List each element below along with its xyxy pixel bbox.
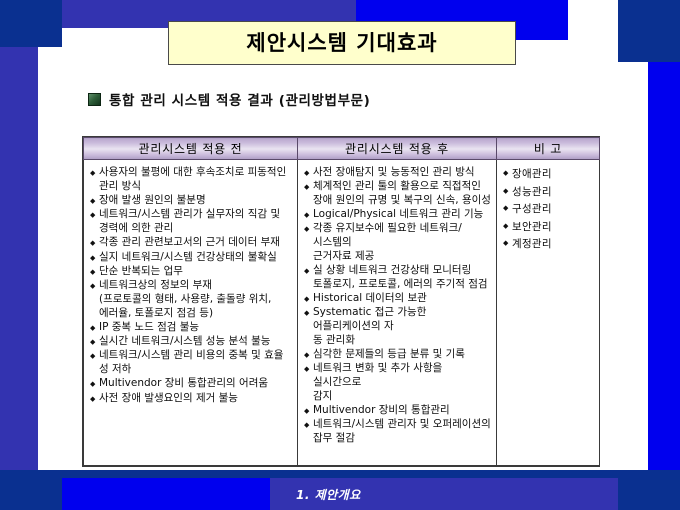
after-list-item: 네트워크/시스템 관리자 및 오퍼레이션의 (304, 418, 491, 432)
before-list-item: 실지 네트워크/시스템 건강상태의 불확실 (90, 251, 292, 265)
after-list-item-continuation: 잡무 절감 (304, 432, 491, 446)
green-square-bullet-icon (88, 93, 101, 106)
section-subtitle-label: 통합 관리 시스템 적용 결과 (관리방법부문) (109, 89, 370, 109)
cell-before: 사용자의 불평에 대한 후속조치로 피동적인관리 방식장애 발생 원인의 불분명… (84, 160, 298, 466)
decor-top-left-navy-block (0, 0, 62, 47)
after-list-item: 네트워크 변화 및 추가 사항을 실시간으로 (304, 362, 491, 389)
before-list-item: 네트워크상의 정보의 부재 (90, 279, 292, 293)
remarks-list: 장애관리성능관리구성관리보안관리계정관리 (503, 166, 594, 253)
after-list-item-continuation: 동 관리화 (304, 334, 491, 348)
table-header-remarks: 비 고 (497, 138, 600, 160)
remarks-list-item: 장애관리 (503, 166, 594, 183)
after-list-item: 심각한 문제들의 등급 분류 및 기록 (304, 348, 491, 362)
before-list-item: 네트워크/시스템 관리 비용의 중복 및 효율 (90, 349, 292, 363)
after-list-item: 체계적인 관리 툴의 활용으로 직접적인 (304, 180, 491, 194)
after-list: 사전 장애탐지 및 능동적인 관리 방식체계적인 관리 툴의 활용으로 직접적인… (304, 166, 491, 446)
footer-accent-block (62, 478, 270, 510)
before-list-item: 장애 발생 원인의 불분명 (90, 194, 292, 208)
page-title: 제안시스템 기대효과 (246, 33, 437, 54)
before-list-item: IP 중복 노드 점검 불능 (90, 321, 292, 335)
remarks-list-item: 보안관리 (503, 219, 594, 236)
decor-right-vertical-strip (648, 62, 680, 470)
decor-top-right-navy-block (618, 0, 680, 62)
table-header-after: 관리시스템 적용 후 (298, 138, 497, 160)
footer-label: 1. 제안개요 (296, 486, 361, 503)
comparison-table: 관리시스템 적용 전 관리시스템 적용 후 비 고 사용자의 불평에 대한 후속… (83, 137, 600, 466)
before-list-item-continuation: 성 저하 (90, 363, 292, 377)
after-list-item: 각종 유지보수에 필요한 네트워크/시스템의 (304, 222, 491, 249)
section-subtitle: 통합 관리 시스템 적용 결과 (관리방법부문) (88, 89, 370, 109)
after-list-item: Multivendor 장비의 통합관리 (304, 404, 491, 418)
after-list-item: 실 상황 네트워크 건강상태 모니터링 (304, 264, 491, 278)
before-list-item: Multivendor 장비 통합관리의 어려움 (90, 377, 292, 391)
cell-after: 사전 장애탐지 및 능동적인 관리 방식체계적인 관리 툴의 활용으로 직접적인… (298, 160, 497, 466)
slide-title-plate: 제안시스템 기대효과 (168, 21, 516, 65)
before-list-item: 실시간 네트워크/시스템 성능 분석 불능 (90, 335, 292, 349)
table-header-row: 관리시스템 적용 전 관리시스템 적용 후 비 고 (84, 138, 600, 160)
after-list-item: Logical/Physical 네트워크 관리 기능 (304, 208, 491, 222)
decor-left-vertical-strip (0, 47, 38, 470)
after-list-item-continuation: 장애 원인의 규명 및 복구의 신속, 용이성 (304, 194, 491, 208)
cell-remarks: 장애관리성능관리구성관리보안관리계정관리 (497, 160, 600, 466)
before-list-item: 사전 장애 발생요인의 제거 불능 (90, 392, 292, 406)
remarks-list-item: 성능관리 (503, 184, 594, 201)
before-list-item-continuation: 경력에 의한 관리 (90, 222, 292, 236)
comparison-table-container: 관리시스템 적용 전 관리시스템 적용 후 비 고 사용자의 불평에 대한 후속… (82, 136, 600, 467)
slide-canvas: 제안시스템 기대효과 통합 관리 시스템 적용 결과 (관리방법부문) 관리시스… (0, 0, 680, 510)
remarks-list-item: 계정관리 (503, 236, 594, 253)
after-list-item-continuation: 토폴로지, 프로토콜, 에러의 주기적 점검 (304, 278, 491, 292)
after-list-item: Systematic 접근 가능한 어플리케이션의 자 (304, 306, 491, 333)
table-row: 사용자의 불평에 대한 후속조치로 피동적인관리 방식장애 발생 원인의 불분명… (84, 160, 600, 466)
after-list-item-continuation: 감지 (304, 390, 491, 404)
after-list-item: Historical 데이터의 보관 (304, 292, 491, 306)
after-list-item: 사전 장애탐지 및 능동적인 관리 방식 (304, 166, 491, 180)
after-list-item-continuation: 근거자료 제공 (304, 250, 491, 264)
before-list-item-continuation: (프로토콜의 형태, 사용량, 출돌량 위치, (90, 293, 292, 307)
before-list-item: 사용자의 불평에 대한 후속조치로 피동적인 (90, 166, 292, 180)
before-list-item-continuation: 관리 방식 (90, 180, 292, 194)
footer-label-container: 1. 제안개요 (270, 478, 618, 510)
remarks-list-item: 구성관리 (503, 201, 594, 218)
before-list-item: 각종 관리 관련보고서의 근거 데이터 부재 (90, 236, 292, 250)
before-list-item-continuation: 에러율, 토폴로지 점검 등) (90, 307, 292, 321)
before-list: 사용자의 불평에 대한 후속조치로 피동적인관리 방식장애 발생 원인의 불분명… (90, 166, 292, 405)
table-header-before: 관리시스템 적용 전 (84, 138, 298, 160)
before-list-item: 단순 반복되는 업무 (90, 265, 292, 279)
before-list-item: 네트워크/시스템 관리가 실무자의 직감 및 (90, 208, 292, 222)
